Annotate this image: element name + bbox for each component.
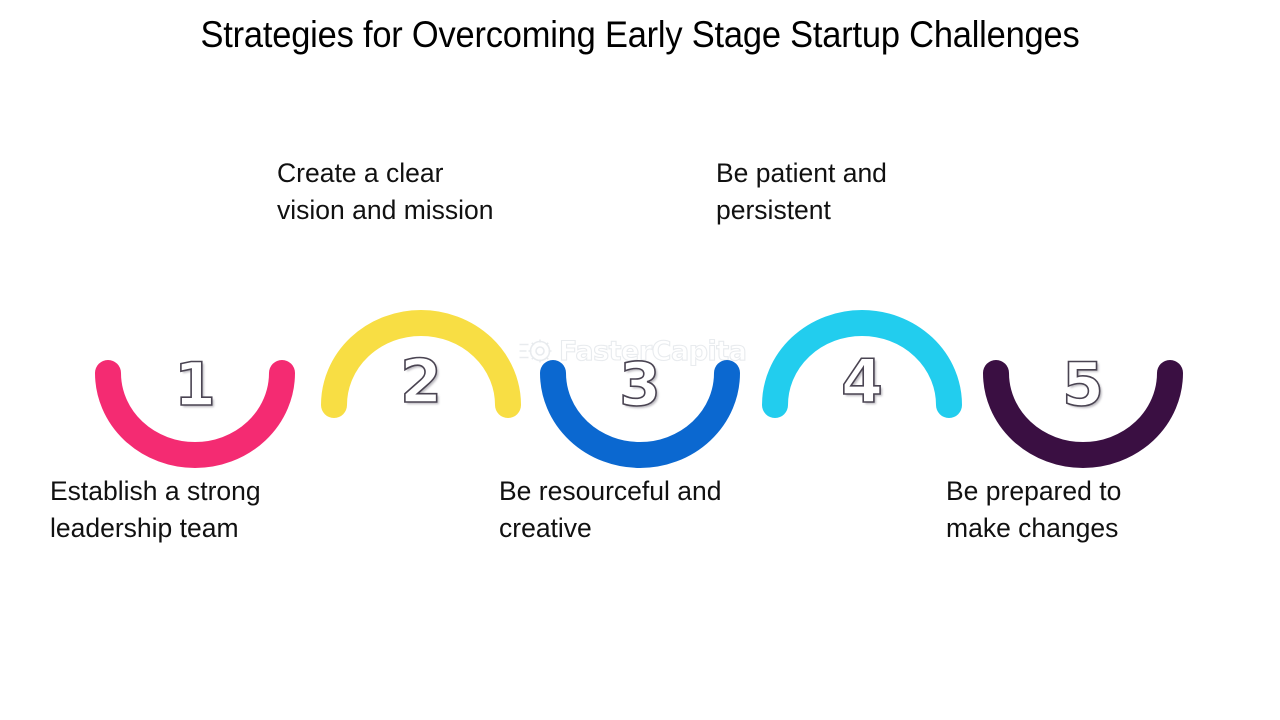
step-3: 3 [540, 360, 740, 460]
step-number-5: 5 [983, 355, 1183, 415]
step-5: 5 [983, 360, 1183, 460]
step-number-4: 4 [762, 352, 962, 412]
step-caption-4: Be patient and persistent [716, 155, 1016, 228]
step-caption-3: Be resourceful and creative [499, 473, 829, 546]
step-4: 4 [762, 315, 962, 415]
step-number-2: 2 [321, 352, 521, 412]
step-1: 1 [95, 360, 295, 460]
page-title: Strategies for Overcoming Early Stage St… [45, 14, 1235, 56]
step-number-3: 3 [540, 355, 740, 415]
step-caption-1: Establish a strong leadership team [50, 473, 350, 546]
step-caption-2: Create a clear vision and mission [277, 155, 597, 228]
step-number-1: 1 [95, 355, 295, 415]
step-2: 2 [321, 315, 521, 415]
step-caption-5: Be prepared to make changes [946, 473, 1246, 546]
slide-canvas: Strategies for Overcoming Early Stage St… [0, 0, 1280, 720]
